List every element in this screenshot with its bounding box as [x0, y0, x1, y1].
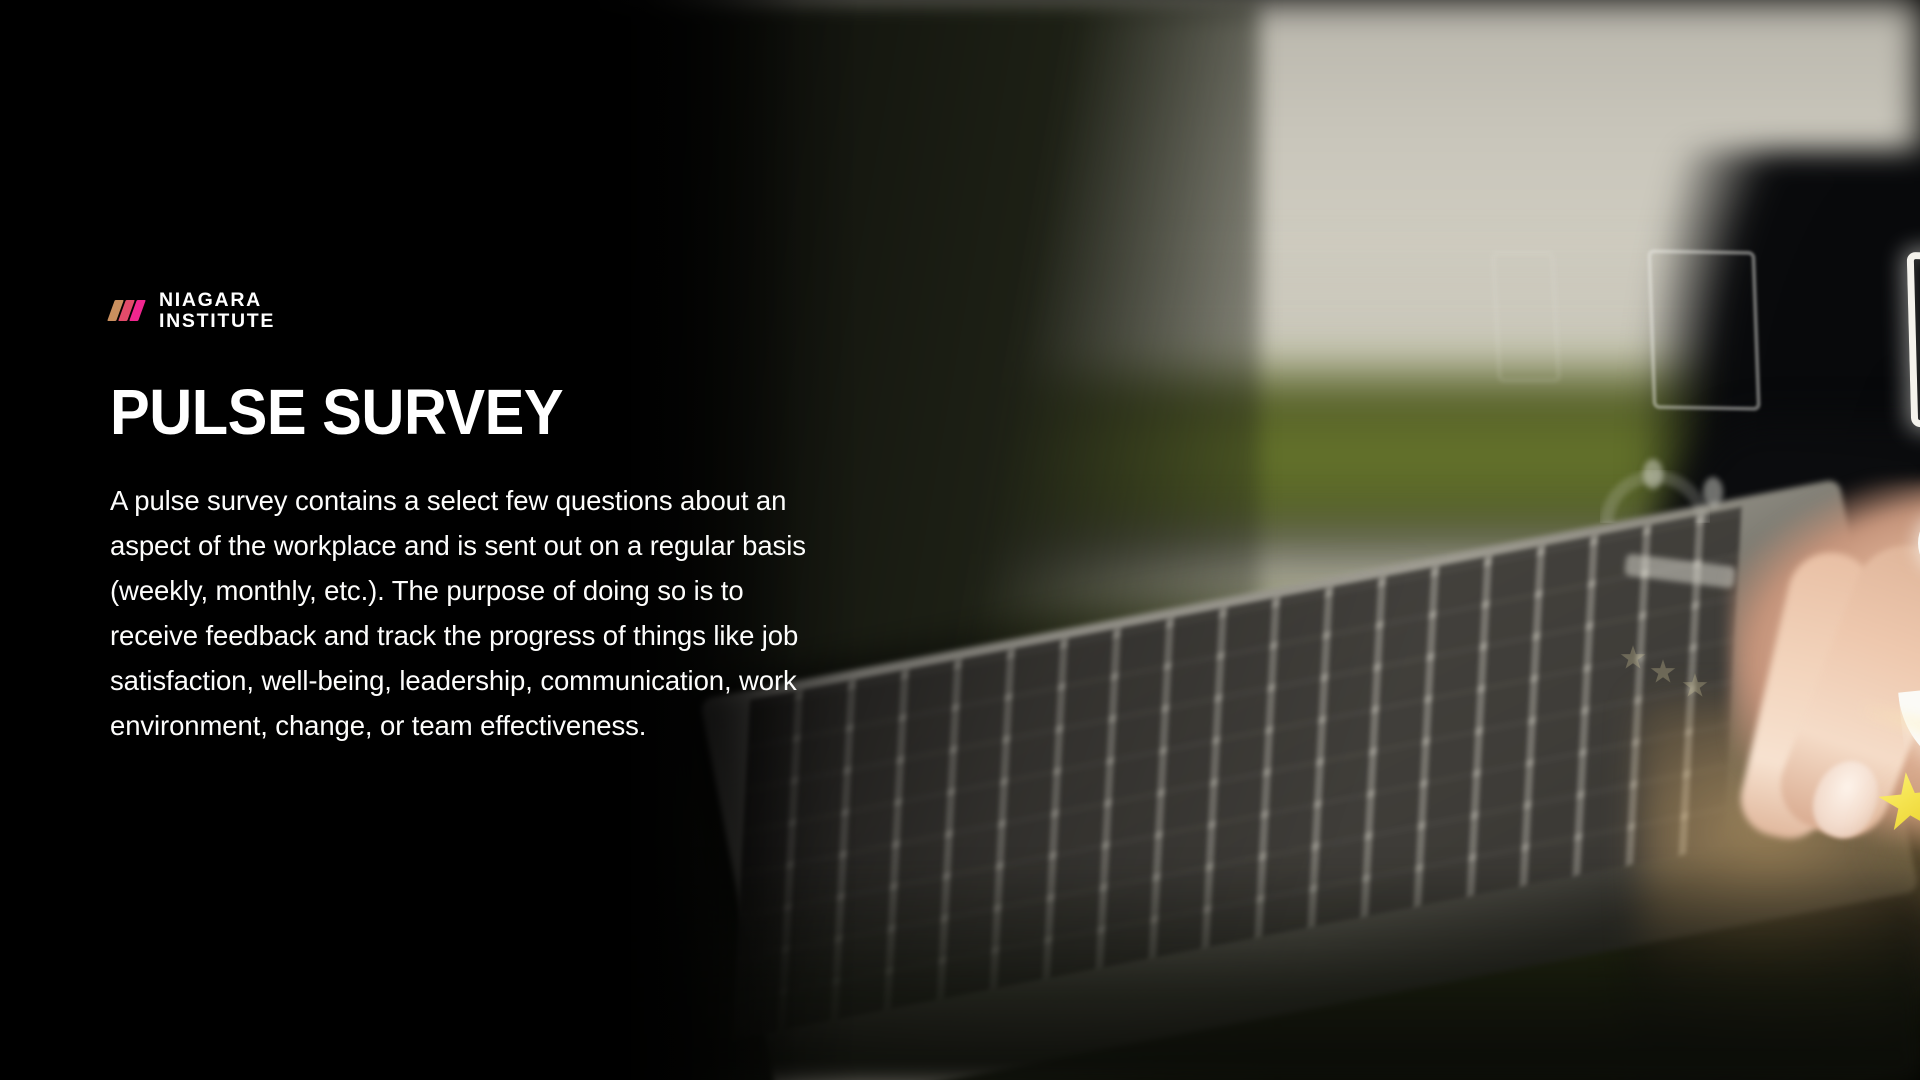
ghost-checkbox-icon-near — [1647, 249, 1761, 411]
ghost-star-icon — [1620, 645, 1646, 671]
neutral-face-eye-right — [1703, 477, 1723, 507]
neutral-face-eye-left — [1643, 459, 1663, 489]
star-icon — [1875, 769, 1920, 837]
brand-wordmark: NIAGARA INSTITUTE — [159, 290, 275, 331]
page-title: PULSE SURVEY — [110, 375, 563, 449]
body-paragraph: A pulse survey contains a select few que… — [110, 478, 828, 748]
ghost-star-icon — [1650, 659, 1676, 685]
brand-name-line-2: INSTITUTE — [159, 311, 275, 332]
brand-name-line-1: NIAGARA — [159, 290, 275, 311]
ghost-star-rating-icon — [1620, 645, 1750, 705]
neutral-face-icon — [1615, 455, 1805, 515]
niagara-chevron-logo-icon — [110, 300, 150, 321]
brand-logo: NIAGARA INSTITUTE — [110, 290, 275, 331]
text-panel: NIAGARA INSTITUTE PULSE SURVEY A pulse s… — [110, 0, 830, 1080]
ghost-star-icon — [1682, 673, 1708, 699]
ghost-checkbox-icon-far — [1492, 252, 1561, 382]
slide-canvas: NIAGARA INSTITUTE PULSE SURVEY A pulse s… — [0, 0, 1920, 1080]
